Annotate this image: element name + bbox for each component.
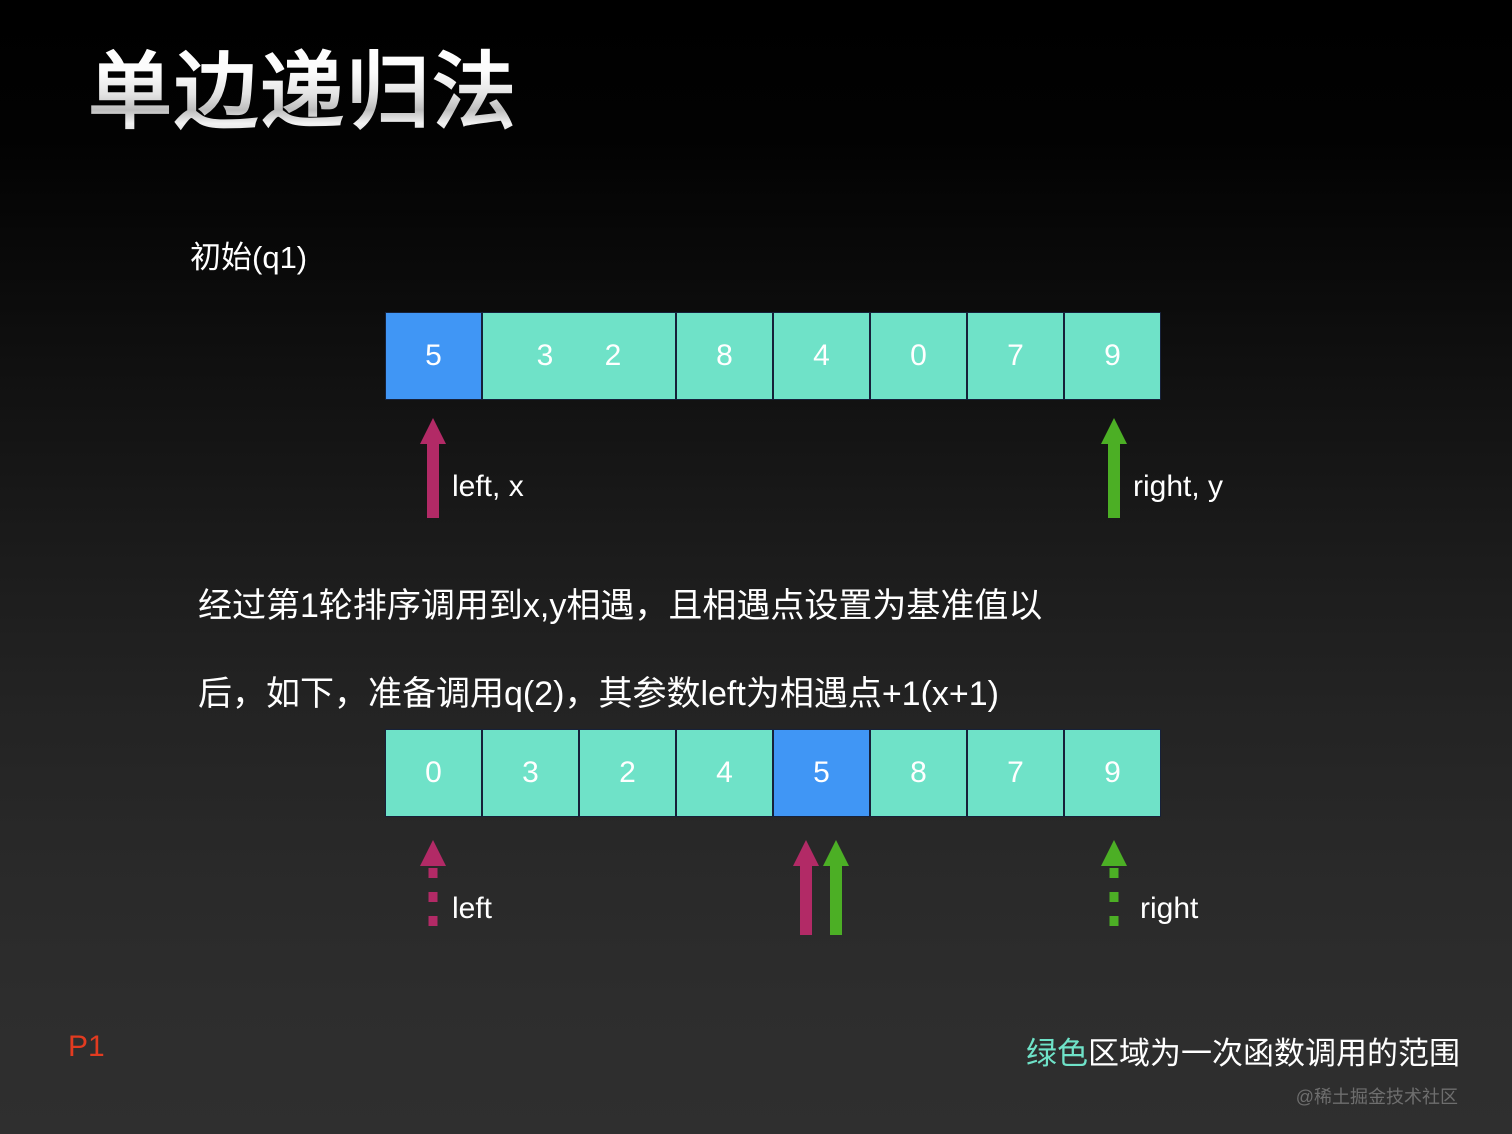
paragraph-line-1: 经过第1轮排序调用到x,y相遇，且相遇点设置为基准值以 bbox=[198, 562, 1208, 650]
pointer-arrow-meet-x bbox=[793, 840, 819, 935]
slide-canvas: 单边递归法 初始(q1) 5 3 2 8 4 0 7 9 left, x rig… bbox=[0, 0, 1512, 1134]
array-cell: 4 bbox=[676, 729, 773, 817]
array-after-first-pass: 0 3 2 4 5 8 7 9 bbox=[385, 729, 1161, 817]
array-cell: 8 bbox=[870, 729, 967, 817]
array-cell-value: 2 bbox=[605, 339, 622, 373]
array-cell: 5 bbox=[385, 312, 482, 400]
array-cell: 2 bbox=[579, 729, 676, 817]
pointer-arrow-right-y bbox=[1101, 418, 1127, 518]
array-cell: 9 bbox=[1064, 312, 1161, 400]
explanation-paragraph: 经过第1轮排序调用到x,y相遇，且相遇点设置为基准值以 后，如下，准备调用q(2… bbox=[198, 562, 1208, 738]
section1-caption: 初始(q1) bbox=[190, 232, 307, 277]
pointer-arrow-right-dashed bbox=[1101, 840, 1127, 935]
array-cell: 4 bbox=[773, 312, 870, 400]
pointer-arrow-left-dashed bbox=[420, 840, 446, 935]
pointer-arrow-left-x bbox=[420, 418, 446, 518]
legend-text: 区域为一次函数调用的范围 bbox=[1088, 1036, 1460, 1071]
paragraph-line-2: 后，如下，准备调用q(2)，其参数left为相遇点+1(x+1) bbox=[198, 650, 1208, 738]
array-cell: 7 bbox=[967, 729, 1064, 817]
pointer-arrow-meet-y bbox=[823, 840, 849, 935]
array-cell-pivot: 5 bbox=[773, 729, 870, 817]
array-cell-merged: 3 2 bbox=[482, 312, 676, 400]
pointer-label-right: right bbox=[1140, 892, 1198, 926]
array-cell: 0 bbox=[385, 729, 482, 817]
watermark: @稀土掘金技术社区 bbox=[1296, 1083, 1458, 1109]
array-cell: 8 bbox=[676, 312, 773, 400]
pointer-label-left-x: left, x bbox=[452, 470, 524, 504]
array-cell-value: 3 bbox=[537, 339, 554, 373]
page-title: 单边递归法 bbox=[88, 44, 518, 141]
page-number: P1 bbox=[68, 1030, 105, 1064]
legend: 绿色区域为一次函数调用的范围 bbox=[1026, 1028, 1460, 1073]
pointer-label-right-y: right, y bbox=[1133, 470, 1223, 504]
array-cell: 0 bbox=[870, 312, 967, 400]
array-cell: 3 bbox=[482, 729, 579, 817]
array-cell: 7 bbox=[967, 312, 1064, 400]
legend-highlight: 绿色 bbox=[1026, 1036, 1088, 1071]
pointer-label-left: left bbox=[452, 892, 492, 926]
array-initial: 5 3 2 8 4 0 7 9 bbox=[385, 312, 1161, 400]
array-cell: 9 bbox=[1064, 729, 1161, 817]
